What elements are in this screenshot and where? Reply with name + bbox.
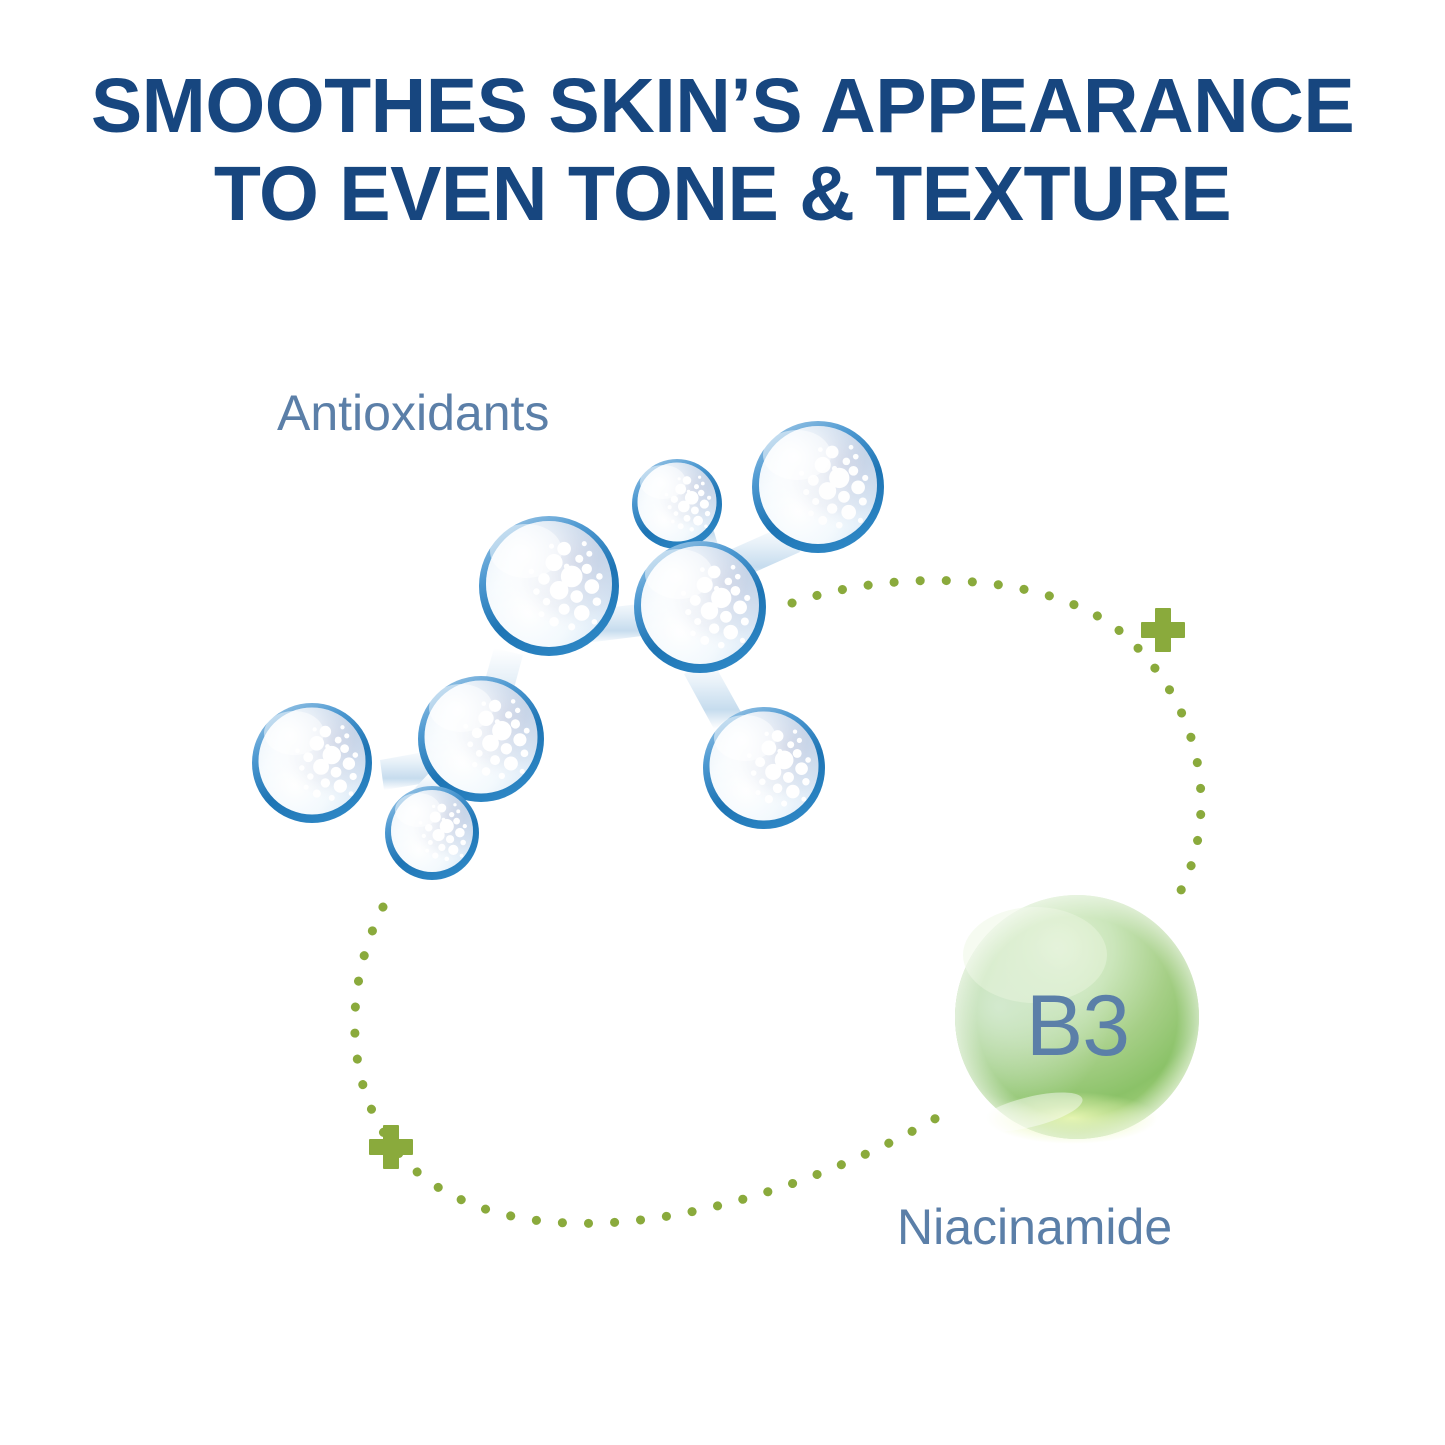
molecule-bubble-cluster-icon [252, 421, 884, 880]
bubble [632, 459, 722, 549]
illustration-layer [0, 0, 1445, 1445]
bubble [479, 516, 619, 656]
bubble [418, 676, 544, 802]
promo-graphic-canvas: SMOOTHES SKIN’S APPEARANCE TO EVEN TONE … [0, 0, 1445, 1445]
b3-badge-text: B3 [955, 980, 1200, 1072]
dotted-arc-bottom [355, 907, 950, 1223]
niacinamide-label: Niacinamide [897, 1199, 1172, 1255]
bubble [752, 421, 884, 553]
bubble [703, 707, 825, 829]
bubble [385, 786, 479, 880]
plus-icon-bottom [369, 1125, 413, 1169]
dotted-arc-top [792, 580, 1201, 906]
bubble [634, 541, 766, 673]
plus-icon-top [1141, 608, 1185, 652]
antioxidants-label: Antioxidants [277, 385, 549, 441]
bubble [252, 703, 372, 823]
